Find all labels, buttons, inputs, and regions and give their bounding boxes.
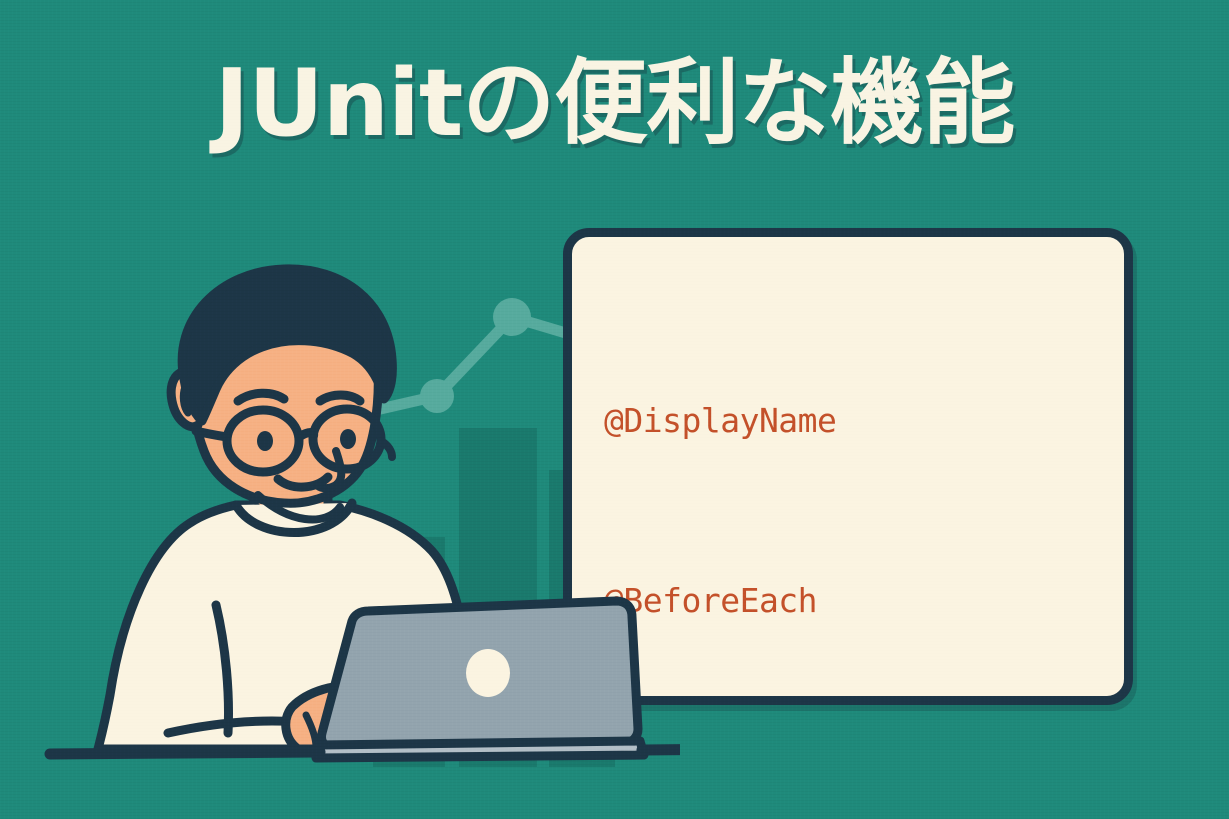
desk-line-right	[642, 749, 680, 750]
poster-canvas: JUnitの便利な機能 @DisplayName @BeforeEach @Te…	[0, 0, 1229, 819]
code-line: @BeforeEach	[604, 571, 1124, 631]
laptop-base	[316, 741, 644, 758]
desk-line	[50, 752, 320, 754]
code-line: @DisplayName	[604, 391, 1124, 451]
eye-left	[257, 431, 273, 451]
glasses-temple	[196, 431, 227, 437]
page-title: JUnitの便利な機能	[0, 55, 1229, 152]
eye-right	[340, 429, 356, 449]
developer-illustration	[40, 255, 680, 775]
glasses-bridge	[299, 433, 314, 438]
laptop-logo	[466, 649, 510, 697]
